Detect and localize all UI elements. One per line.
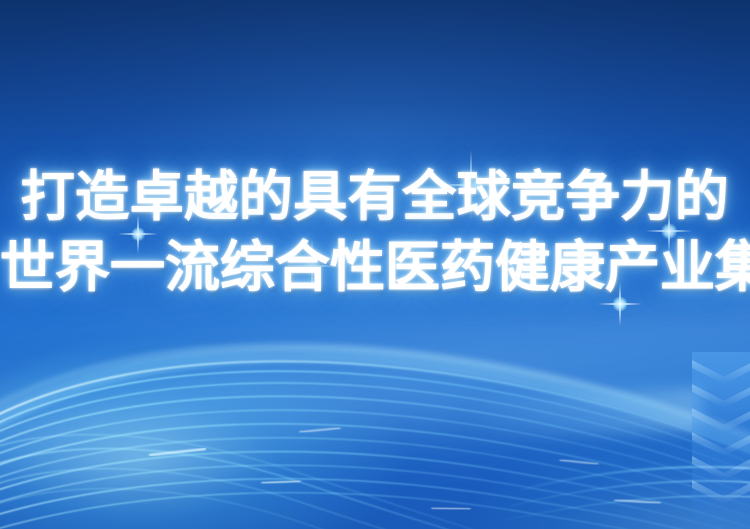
headline-line-1: 打造卓越的具有全球竞争力的 [0, 168, 750, 227]
chevron-tower-icon [692, 352, 750, 529]
light-band-lower [0, 317, 750, 501]
bottom-right-glow [465, 413, 750, 529]
streak-convergence-glow [0, 333, 415, 529]
tower-light-beam [471, 388, 702, 438]
headline-block: 打造卓越的具有全球竞争力的 世界一流综合性医药健康产业集团 [0, 168, 750, 298]
headline-line-2: 世界一流综合性医药健康产业集团 [0, 237, 750, 298]
hero-banner: 打造卓越的具有全球竞争力的 世界一流综合性医药健康产业集团 [0, 0, 750, 529]
